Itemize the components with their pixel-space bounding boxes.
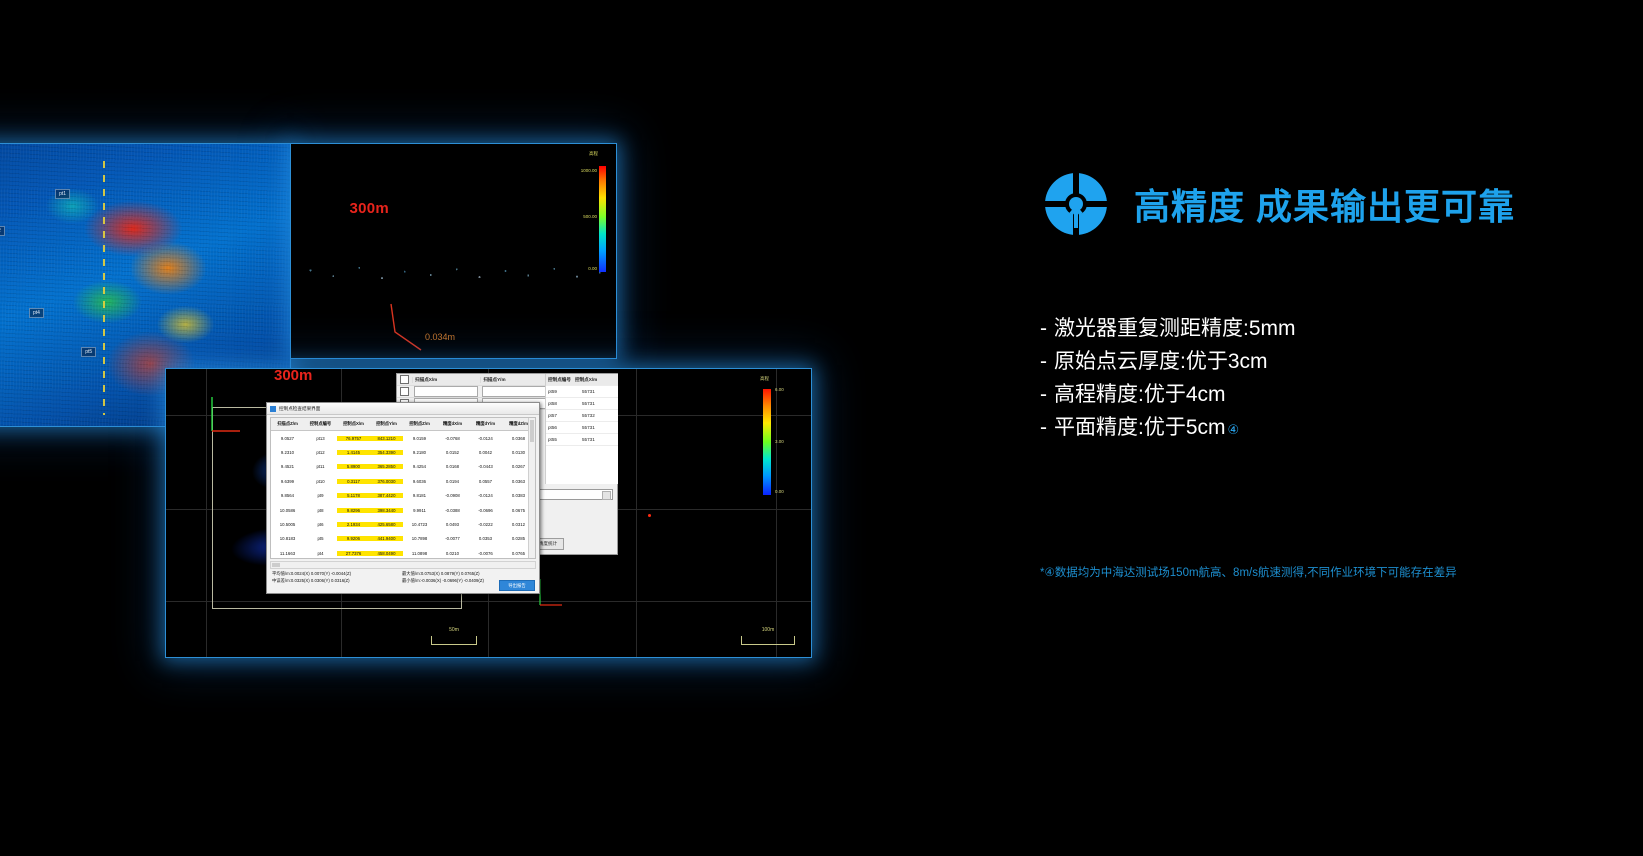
ramp-gradient-bar <box>763 389 771 495</box>
table-cell: 9.8564 <box>271 493 304 498</box>
table-row[interactable]: 10.0586pt89.8296398.34409.9911-0.0388-0.… <box>271 503 535 517</box>
column-header: 扫描点Z/m <box>271 421 304 427</box>
column-header: 控制点编号 <box>546 377 573 383</box>
spec-text: 原始点云厚度:优于3cm <box>1054 351 1268 372</box>
table-cell: pt4 <box>304 551 337 556</box>
marker-dot <box>648 514 651 517</box>
stat-max: 最大值/m:0.0753(X) 0.0879(Y) 0.0765(Z) <box>402 571 480 577</box>
software-distance-label: 300m <box>274 368 312 384</box>
bullet-dash: - <box>1040 417 1047 438</box>
scale-bar-label: 100m <box>762 627 775 633</box>
list-item[interactable]: pt58 55731 <box>546 398 618 410</box>
table-cell: 843.1210 <box>370 436 403 441</box>
table-cell: -0.0077 <box>436 536 469 541</box>
table-cell: 354.3390 <box>370 450 403 455</box>
table-cell: -0.0222 <box>469 522 502 527</box>
map-point-label: pt4 <box>29 308 44 318</box>
table-cell: 27.7376 <box>337 551 370 556</box>
point-x: 55732 <box>580 413 597 418</box>
spec-text: 平面精度:优于5cm <box>1054 417 1226 438</box>
map-point-label: pt1 <box>55 189 70 199</box>
table-cell: pt12 <box>304 450 337 455</box>
road-centerline <box>103 161 105 415</box>
table-cell: pt6 <box>304 522 337 527</box>
dialog-title: 控制点检查结果界面 <box>279 406 320 412</box>
cell-input[interactable] <box>414 386 478 397</box>
table-cell: 9.2180 <box>403 450 436 455</box>
table-cell: -0.0124 <box>469 493 502 498</box>
point-id: pt59 <box>546 389 580 394</box>
column-header: 扫描点X/m <box>412 377 480 383</box>
spec-text: 激光器重复测距精度:5mm <box>1054 318 1296 339</box>
chevron-down-icon[interactable] <box>602 491 611 500</box>
table-cell: 0.3117 <box>337 479 370 484</box>
table-cell: 10.0586 <box>271 508 304 513</box>
table-cell: 0.0152 <box>436 450 469 455</box>
scrollbar-thumb[interactable] <box>530 420 534 442</box>
table-cell: 365.2850 <box>370 464 403 469</box>
table-cell: 5.1178 <box>337 493 370 498</box>
spec-item-2: -原始点云厚度:优于3cm <box>1040 351 1600 372</box>
map-point-label: pt2 <box>0 226 5 236</box>
spec-item-4: -平面精度:优于5cm④ <box>1040 417 1600 438</box>
stat-min: 最小值/m:-0.0036(X) -0.0696(Y) -0.0409(Z) <box>402 578 484 584</box>
select-all-checkbox[interactable] <box>400 375 409 384</box>
table-cell: 10.4723 <box>403 522 436 527</box>
table-row[interactable]: 10.5005pt62.1934425.658010.47230.0493-0.… <box>271 517 535 531</box>
statistics-area: 平均值/m:0.0024(X) 0.0070(Y) -0.0044(Z) 中误差… <box>272 571 534 589</box>
ramp-tick: 500.00 <box>583 214 597 219</box>
footnote: *④数据均为中海达测试场150m航高、8m/s航速测得,不同作业环境下可能存在差… <box>1040 565 1620 582</box>
table-cell: 10.8183 <box>271 536 304 541</box>
table-cell: 9.2310 <box>271 450 304 455</box>
bullet-dash: - <box>1040 384 1047 405</box>
column-header: 控制点X/m <box>337 421 370 427</box>
table-cell: pt13 <box>304 436 337 441</box>
table-body: 9.0527pt1376.9757843.12109.0159-0.0768-0… <box>271 431 535 559</box>
section-header: 高精度 成果输出更可靠 <box>1040 168 1515 240</box>
column-header: 扫描点Y/m <box>480 377 548 383</box>
table-cell: 9.8181 <box>403 493 436 498</box>
table-cell: 0.0168 <box>436 464 469 469</box>
ramp-tick: 0.00 <box>588 266 597 271</box>
column-header: 控制点Y/m <box>370 421 403 427</box>
table-cell: 441.9400 <box>370 536 403 541</box>
table-cell: 11.0898 <box>403 551 436 556</box>
table-cell: -0.0696 <box>469 508 502 513</box>
ramp-tick: 6.00 <box>775 387 784 392</box>
results-table[interactable]: 扫描点Z/m 控制点编号 控制点X/m 控制点Y/m 控制点Z/m 精度dX/m… <box>270 417 536 559</box>
table-cell: 9.9206 <box>337 536 370 541</box>
bullet-dash: - <box>1040 351 1047 372</box>
point-id: pt58 <box>546 401 580 406</box>
measure-label-1: 0.034m <box>425 332 455 342</box>
column-header: 精度dX/m <box>436 421 469 427</box>
table-cell: 0.0194 <box>436 479 469 484</box>
control-point-list[interactable]: 控制点编号 控制点X/m pt59 55731 pt58 55731 pt57 … <box>545 374 618 484</box>
ramp-gradient-bar <box>599 166 606 272</box>
content-column: 高精度 成果输出更可靠 -激光器重复测距精度:5mm-原始点云厚度:优于3cm-… <box>1040 0 1640 856</box>
table-header-row: 扫描点Z/m 控制点编号 控制点X/m 控制点Y/m 控制点Z/m 精度dX/m… <box>271 418 535 431</box>
table-cell: 9.6399 <box>271 479 304 484</box>
list-header: 控制点编号 控制点X/m <box>546 374 618 386</box>
table-cell: 9.4521 <box>271 464 304 469</box>
profile-view-panel: 300m 0.034m 0.105m 高程 1000.00 500.00 0.0… <box>290 143 617 359</box>
table-cell: pt10 <box>304 479 337 484</box>
table-cell: 398.3440 <box>370 508 403 513</box>
table-row[interactable]: 11.1663pt427.7376458.049011.08980.0210-0… <box>271 546 535 559</box>
point-x: 55731 <box>580 425 597 430</box>
point-id: pt56 <box>546 425 580 430</box>
point-x: 55731 <box>580 389 597 394</box>
table-cell: 9.4254 <box>403 464 436 469</box>
column-header: 控制点编号 <box>304 421 337 427</box>
footnote-marker: ④ <box>1228 423 1240 436</box>
scale-bar-left: 50m <box>431 636 477 645</box>
scale-bar-right: 100m <box>741 636 795 645</box>
axis-gizmo <box>208 395 242 435</box>
table-row[interactable]: 9.4521pt115.8900365.28509.42540.0168-0.0… <box>271 460 535 474</box>
table-cell: 9.8296 <box>337 508 370 513</box>
spec-list: -激光器重复测距精度:5mm-原始点云厚度:优于3cm-高程精度:优于4cm-平… <box>1040 318 1600 450</box>
scale-bar-label: 50m <box>449 627 459 633</box>
table-cell: -0.0388 <box>436 508 469 513</box>
spec-item-3: -高程精度:优于4cm <box>1040 384 1600 405</box>
point-id: pt55 <box>546 437 580 442</box>
column-header: 控制点Z/m <box>403 421 436 427</box>
table-cell: 11.1663 <box>271 551 304 556</box>
column-header: 精度dY/m <box>469 421 502 427</box>
table-cell: 1.4145 <box>337 450 370 455</box>
table-cell: 0.0557 <box>469 479 502 484</box>
elevation-color-ramp: 高程 1000.00 500.00 0.00 <box>558 152 610 276</box>
table-cell: -0.0124 <box>469 436 502 441</box>
table-cell: pt11 <box>304 464 337 469</box>
control-point-check-dialog[interactable]: 控制点检查结果界面 扫描点Z/m 控制点编号 控制点X/m 控制点Y/m 控制点… <box>266 402 540 594</box>
stat-rmse: 中误差/m:0.0325(X) 0.0306(Y) 0.0316(Z) <box>272 578 350 584</box>
imagery-stage: pt1 pt2 pt3 pt4 pt5 pt6 300m 0.034m 0.10… <box>0 0 860 856</box>
table-cell: -0.0443 <box>469 464 502 469</box>
table-cell: -0.0768 <box>436 436 469 441</box>
table-cell: 0.0042 <box>469 450 502 455</box>
app-icon <box>270 406 276 412</box>
table-cell: 5.8900 <box>337 464 370 469</box>
list-item[interactable]: pt57 55732 <box>546 410 618 422</box>
spec-item-1: -激光器重复测距精度:5mm <box>1040 318 1600 339</box>
list-item[interactable]: pt55 55731 <box>546 434 618 446</box>
table-cell: 0.0210 <box>436 551 469 556</box>
table-cell: 387.4420 <box>370 493 403 498</box>
table-cell: -0.0908 <box>436 493 469 498</box>
table-cell: 425.6580 <box>370 522 403 527</box>
table-cell: 0.0353 <box>469 536 502 541</box>
table-cell: 9.6036 <box>403 479 436 484</box>
point-id: pt57 <box>546 413 580 418</box>
table-cell: 458.0490 <box>370 551 403 556</box>
horizontal-scrollbar[interactable] <box>270 561 536 569</box>
point-x: 55731 <box>580 437 597 442</box>
table-cell: 9.9911 <box>403 508 436 513</box>
ramp-tick: 1000.00 <box>581 168 597 173</box>
list-item[interactable]: pt59 55731 <box>546 386 618 398</box>
table-cell: pt8 <box>304 508 337 513</box>
cell-input[interactable] <box>482 386 546 397</box>
list-item[interactable]: pt56 55731 <box>546 422 618 434</box>
scrollbar-thumb[interactable] <box>272 563 280 567</box>
stat-mean: 平均值/m:0.0024(X) 0.0070(Y) -0.0044(Z) <box>272 571 351 577</box>
ramp-caption: 高程 <box>760 376 769 382</box>
software-elevation-ramp: 高程 6.00 3.00 0.00 <box>757 383 801 501</box>
table-cell: 2.1934 <box>337 522 370 527</box>
row-checkbox[interactable] <box>400 387 409 396</box>
table-row[interactable]: 9.8564pt95.1178387.44209.8181-0.0908-0.0… <box>271 489 535 503</box>
table-row[interactable]: 10.8183pt59.9206441.940010.7898-0.00770.… <box>271 532 535 546</box>
column-header: 控制点X/m <box>573 377 599 383</box>
table-row[interactable]: 9.0527pt1376.9757843.12109.0159-0.0768-0… <box>271 431 535 445</box>
bullet-dash: - <box>1040 318 1047 339</box>
table-row[interactable]: 9.6399pt100.3117376.00309.60360.01940.05… <box>271 474 535 488</box>
table-cell: 0.0493 <box>436 522 469 527</box>
grid-line <box>636 369 637 657</box>
table-cell: 10.5005 <box>271 522 304 527</box>
table-cell: 10.7898 <box>403 536 436 541</box>
table-cell: pt5 <box>304 536 337 541</box>
vertical-scrollbar[interactable] <box>528 418 535 558</box>
table-cell: 376.0030 <box>370 479 403 484</box>
table-cell: 76.9757 <box>337 436 370 441</box>
target-crosshair-icon <box>1040 168 1112 240</box>
table-row[interactable]: 9.2310pt121.4145354.33909.21800.01520.00… <box>271 445 535 459</box>
axis-gizmo-secondary <box>536 577 564 609</box>
export-report-button[interactable]: 导出报告 <box>499 580 535 591</box>
table-cell: 9.0527 <box>271 436 304 441</box>
table-cell: -0.0076 <box>469 551 502 556</box>
point-x: 55731 <box>580 401 597 406</box>
ramp-caption: 高程 <box>589 151 598 157</box>
table-cell: pt9 <box>304 493 337 498</box>
spec-text: 高程精度:优于4cm <box>1054 384 1226 405</box>
table-cell: 9.0159 <box>403 436 436 441</box>
software-window-panel: 50m 100m 高程 6.00 3.00 0.00 × 扫描点X/m 扫描点Y… <box>165 368 812 658</box>
ramp-tick: 0.00 <box>775 489 784 494</box>
dialog-title-bar[interactable]: 控制点检查结果界面 <box>267 403 539 415</box>
map-point-label: pt5 <box>81 347 96 357</box>
page-title: 高精度 成果输出更可靠 <box>1134 178 1515 230</box>
ramp-tick: 3.00 <box>775 439 784 444</box>
